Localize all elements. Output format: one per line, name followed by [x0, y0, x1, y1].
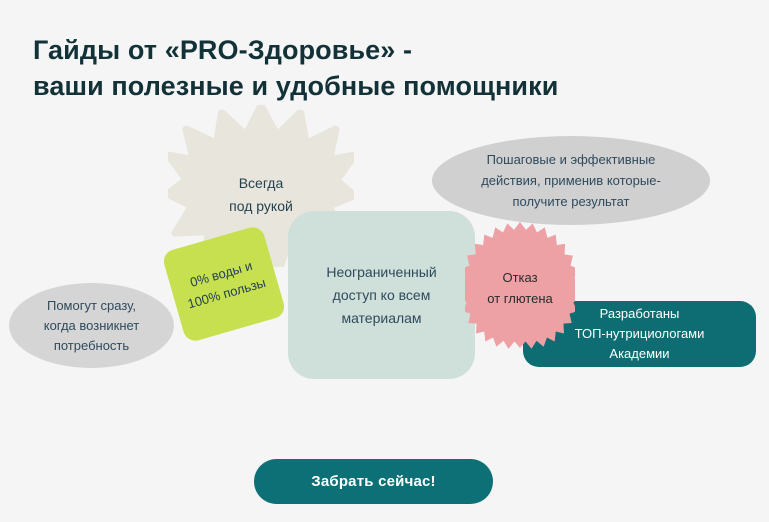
benefit-ellipse-left-label: Помогут сразу, когда возникнет потребнос…: [9, 283, 174, 368]
benefit-tile-green: 0% воды и 100% пользы: [172, 237, 276, 331]
benefit-panel-center-label: Неограниченный доступ ко всем материалам: [288, 211, 475, 379]
infographic-slide: Гайды от «PRO-Здоровье» - ваши полезные …: [0, 0, 769, 522]
benefit-ellipse-left: Помогут сразу, когда возникнет потребнос…: [9, 283, 174, 368]
benefit-panel-center: Неограниченный доступ ко всем материалам: [288, 211, 475, 379]
benefit-cog-pink: Отказ от глютена: [465, 222, 575, 354]
benefit-cog-pink-label: Отказ от глютена: [465, 222, 575, 354]
benefit-tile-green-label: 0% воды и 100% пользы: [161, 224, 287, 343]
cta-button[interactable]: Забрать сейчас!: [254, 459, 493, 504]
page-title: Гайды от «PRO-Здоровье» - ваши полезные …: [33, 32, 733, 104]
